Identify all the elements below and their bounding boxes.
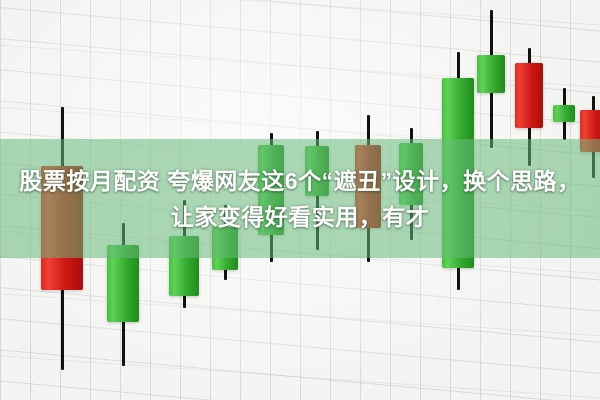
stock-chart-image: 股票按月配资 夸爆网友这6个“遮丑”设计，换个思路，让家变得好看实用，有才 [0,0,600,400]
candle-body-down [515,63,543,128]
headline-text: 股票按月配资 夸爆网友这6个“遮丑”设计，换个思路，让家变得好看实用，有才 [0,163,600,235]
candle-body-up [553,105,575,122]
candle-body-up [477,55,505,93]
